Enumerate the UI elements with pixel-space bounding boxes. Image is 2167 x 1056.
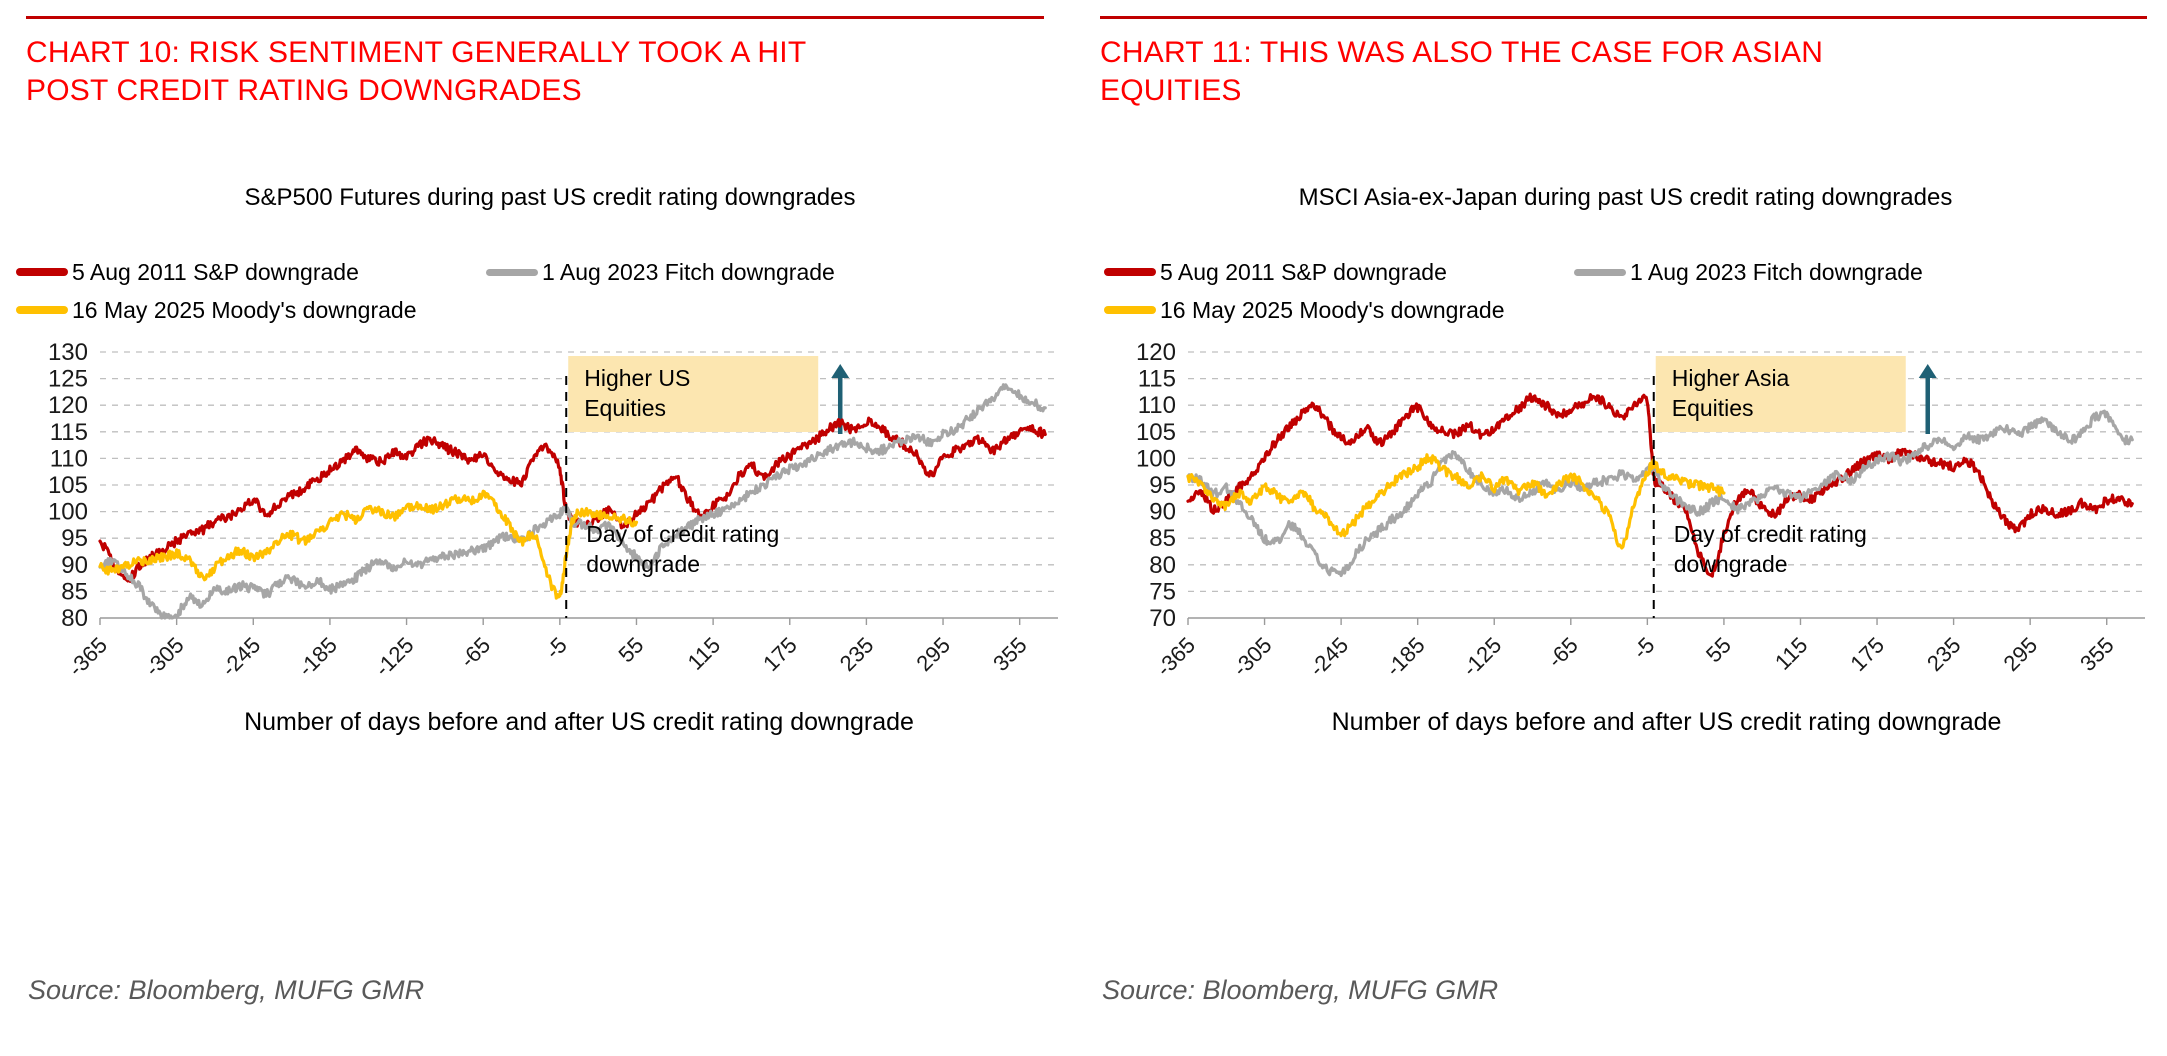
legend-swatch-grey: [486, 269, 538, 276]
legend-label-fitch-2023: 1 Aug 2023 Fitch downgrade: [1630, 259, 1923, 286]
legend-left: 5 Aug 2011 S&P downgrade 1 Aug 2023 Fitc…: [16, 253, 1070, 329]
legend-swatch-red: [1104, 268, 1156, 276]
y-axis-tick-120: 120: [1136, 340, 1176, 366]
legend-swatch-yellow: [1104, 306, 1156, 314]
legend-item-sp-2011[interactable]: 5 Aug 2011 S&P downgrade: [16, 259, 486, 286]
chart-heading-left: CHART 10: RISK SENTIMENT GENERALLY TOOK …: [26, 34, 1036, 110]
event-label-line2: downgrade: [1674, 551, 1788, 577]
x-axis-tick-55: 55: [614, 632, 649, 667]
x-axis-tick--365: -365: [63, 632, 112, 681]
y-axis-tick-120: 120: [48, 392, 88, 419]
x-axis-tick-295: 295: [1999, 632, 2043, 676]
legend-row-2: 16 May 2025 Moody's downgrade: [1104, 291, 2157, 329]
legend-row-2: 16 May 2025 Moody's downgrade: [16, 291, 1070, 329]
x-axis-tick-115: 115: [683, 632, 725, 674]
y-axis-tick-115: 115: [1138, 366, 1176, 393]
y-axis-tick-130: 130: [48, 340, 88, 366]
y-axis-tick-85: 85: [1149, 525, 1176, 552]
y-axis-tick-125: 125: [48, 366, 88, 393]
event-label-line1: Day of credit rating: [1674, 521, 1867, 547]
event-label-line1: Day of credit rating: [586, 521, 779, 547]
top-rule-right: [1100, 16, 2147, 19]
x-axis-tick-295: 295: [911, 632, 955, 676]
x-axis-tick-235: 235: [835, 632, 879, 676]
slide-page: CHART 10: RISK SENTIMENT GENERALLY TOOK …: [0, 0, 2167, 1056]
x-axis-tick-175: 175: [758, 632, 802, 676]
x-axis-tick--245: -245: [216, 632, 265, 681]
x-axis-tick--65: -65: [1543, 632, 1583, 672]
plot-area-right: 707580859095100105110115120-365-305-245-…: [1088, 340, 2167, 980]
top-rule-left: [26, 16, 1044, 19]
x-axis-tick--305: -305: [140, 632, 189, 681]
y-axis-tick-105: 105: [1136, 419, 1176, 446]
y-axis-tick-90: 90: [61, 552, 88, 579]
x-axis-tick--305: -305: [1228, 632, 1277, 681]
x-axis-tick--5: -5: [540, 632, 572, 664]
legend-label-moodys-2025: 16 May 2025 Moody's downgrade: [1160, 297, 1505, 324]
y-axis-tick-110: 110: [1138, 392, 1176, 419]
legend-item-moodys-2025[interactable]: 16 May 2025 Moody's downgrade: [16, 297, 417, 324]
x-axis-tick--125: -125: [370, 632, 419, 681]
annotation-box-line1: Higher Asia: [1672, 365, 1790, 391]
x-axis-tick--185: -185: [1381, 632, 1430, 681]
source-note-left: Source: Bloomberg, MUFG GMR: [28, 975, 424, 1006]
legend-row-1: 5 Aug 2011 S&P downgrade 1 Aug 2023 Fitc…: [16, 253, 1070, 291]
y-axis-tick-100: 100: [1136, 445, 1176, 472]
y-axis-tick-80: 80: [61, 605, 88, 632]
legend-swatch-yellow: [16, 306, 68, 314]
chart-panel-left: CHART 10: RISK SENTIMENT GENERALLY TOOK …: [0, 0, 1080, 1056]
legend-item-fitch-2023[interactable]: 1 Aug 2023 Fitch downgrade: [486, 259, 835, 286]
plot-title-right: MSCI Asia-ex-Japan during past US credit…: [1108, 182, 2143, 214]
x-axis-tick--5: -5: [1628, 632, 1660, 664]
x-axis-tick-115: 115: [1770, 632, 1812, 674]
y-axis-tick-80: 80: [1149, 552, 1176, 579]
chart-panel-right: CHART 11: THIS WAS ALSO THE CASE FOR ASI…: [1088, 0, 2167, 1056]
x-axis-title: Number of days before and after US credi…: [1332, 708, 2002, 736]
source-note-right: Source: Bloomberg, MUFG GMR: [1102, 975, 1498, 1006]
legend-item-fitch-2023[interactable]: 1 Aug 2023 Fitch downgrade: [1574, 259, 1923, 286]
x-axis-tick--125: -125: [1457, 632, 1506, 681]
x-axis-tick--65: -65: [455, 632, 495, 672]
chart-heading-right: CHART 11: THIS WAS ALSO THE CASE FOR ASI…: [1100, 34, 2120, 110]
legend-item-moodys-2025[interactable]: 16 May 2025 Moody's downgrade: [1104, 297, 1505, 324]
annotation-box-line2: Equities: [584, 395, 666, 421]
y-axis-tick-115: 115: [50, 419, 88, 446]
y-axis-tick-110: 110: [50, 445, 88, 472]
y-axis-tick-95: 95: [1149, 472, 1176, 499]
legend-label-sp-2011: 5 Aug 2011 S&P downgrade: [1160, 259, 1447, 286]
legend-item-sp-2011[interactable]: 5 Aug 2011 S&P downgrade: [1104, 259, 1574, 286]
y-axis-tick-75: 75: [1149, 578, 1176, 605]
legend-swatch-grey: [1574, 269, 1626, 276]
legend-label-fitch-2023: 1 Aug 2023 Fitch downgrade: [542, 259, 835, 286]
line-chart-left: 80859095100105110115120125130-365-305-24…: [0, 340, 1080, 980]
series-line-moodys-2025: [1188, 455, 1724, 548]
up-arrow-icon: [1919, 364, 1937, 434]
legend-right: 5 Aug 2011 S&P downgrade 1 Aug 2023 Fitc…: [1104, 253, 2157, 329]
x-axis-tick--365: -365: [1151, 632, 1200, 681]
plot-area-left: 80859095100105110115120125130-365-305-24…: [0, 340, 1080, 980]
line-chart-right: 707580859095100105110115120-365-305-245-…: [1088, 340, 2167, 980]
event-label-line2: downgrade: [586, 551, 700, 577]
legend-row-1: 5 Aug 2011 S&P downgrade 1 Aug 2023 Fitc…: [1104, 253, 2157, 291]
y-axis-tick-105: 105: [48, 472, 88, 499]
annotation-box-line1: Higher US: [584, 365, 690, 391]
y-axis-tick-100: 100: [48, 499, 88, 526]
x-axis-tick-355: 355: [988, 632, 1032, 676]
x-axis-tick--185: -185: [293, 632, 342, 681]
annotation-box-line2: Equities: [1672, 395, 1754, 421]
x-axis-tick--245: -245: [1304, 632, 1353, 681]
x-axis-tick-55: 55: [1701, 632, 1736, 667]
y-axis-tick-90: 90: [1149, 499, 1176, 526]
legend-swatch-red: [16, 268, 68, 276]
y-axis-tick-95: 95: [61, 525, 88, 552]
x-axis-tick-355: 355: [2075, 632, 2119, 676]
y-axis-tick-70: 70: [1149, 605, 1176, 632]
plot-title-left: S&P500 Futures during past US credit rat…: [40, 182, 1060, 214]
x-axis-title: Number of days before and after US credi…: [244, 708, 914, 736]
legend-label-sp-2011: 5 Aug 2011 S&P downgrade: [72, 259, 359, 286]
y-axis-tick-85: 85: [61, 578, 88, 605]
legend-label-moodys-2025: 16 May 2025 Moody's downgrade: [72, 297, 417, 324]
x-axis-tick-175: 175: [1845, 632, 1889, 676]
x-axis-tick-235: 235: [1922, 632, 1966, 676]
